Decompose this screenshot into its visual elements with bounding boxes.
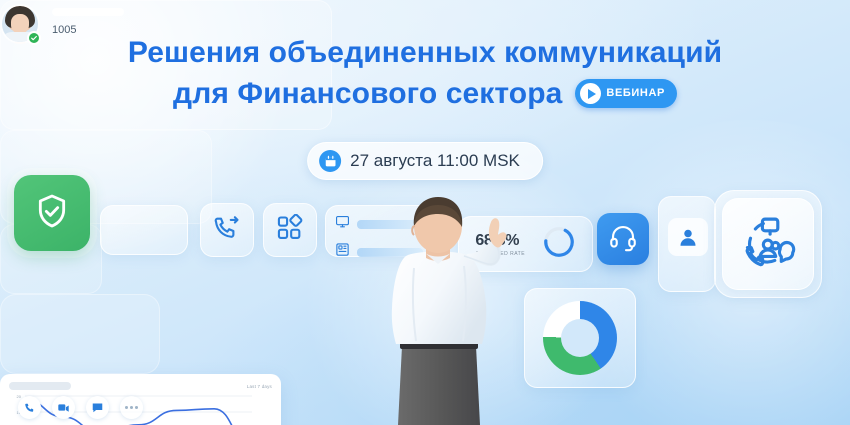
webinar-date-pill[interactable]: 27 августа 11:00 MSK xyxy=(307,142,543,180)
chat-button[interactable] xyxy=(86,396,109,419)
headline-line-2-row: для Финансового сектора ВЕБИНАР xyxy=(173,75,677,112)
security-shield-tile[interactable] xyxy=(14,175,90,251)
chart-header: Last 7 days xyxy=(9,382,272,390)
text-lines-card[interactable] xyxy=(100,205,188,255)
video-button[interactable] xyxy=(52,396,75,419)
call-transfer-icon xyxy=(212,213,242,248)
call-button[interactable] xyxy=(18,396,41,419)
ring-gauge-icon xyxy=(542,225,576,264)
donut-chart xyxy=(543,301,617,375)
headset-tile[interactable] xyxy=(597,213,649,265)
call-transfer-tile[interactable] xyxy=(200,203,254,257)
user-profile-card[interactable] xyxy=(658,196,716,292)
chart-range-label: Last 7 days xyxy=(247,384,272,389)
unified-communications-tile[interactable] xyxy=(722,198,814,290)
calendar-icon xyxy=(319,150,341,172)
more-dots-icon xyxy=(125,406,138,409)
webinar-badge-label: ВЕБИНАР xyxy=(606,87,665,101)
headline-line-1: Решения объединенных коммуникаций xyxy=(0,34,850,71)
play-icon xyxy=(580,83,601,104)
more-button[interactable] xyxy=(120,396,143,419)
unified-communications-icon xyxy=(740,214,796,275)
contact-name-placeholder xyxy=(52,8,124,16)
webinar-date-text: 27 августа 11:00 MSK xyxy=(350,151,520,171)
person-illustration xyxy=(368,196,516,425)
chart-title-placeholder xyxy=(9,382,71,390)
banner-headline: Решения объединенных коммуникаций для Фи… xyxy=(0,34,850,112)
shield-check-icon xyxy=(32,191,72,236)
apps-grid-icon xyxy=(276,214,304,247)
webinar-badge[interactable]: ВЕБИНАР xyxy=(575,79,677,108)
donut-chart-card[interactable] xyxy=(524,288,636,388)
decorative-panel xyxy=(0,294,160,374)
headset-icon xyxy=(608,222,638,257)
webinar-banner: Решения объединенных коммуникаций для Фи… xyxy=(0,0,850,425)
headline-line-2: для Финансового сектора xyxy=(173,75,562,112)
contact-actions xyxy=(18,396,143,419)
monitor-icon xyxy=(335,214,350,234)
desk-phone-icon xyxy=(335,242,350,262)
user-avatar-icon xyxy=(668,218,708,256)
apps-grid-tile[interactable] xyxy=(263,203,317,257)
